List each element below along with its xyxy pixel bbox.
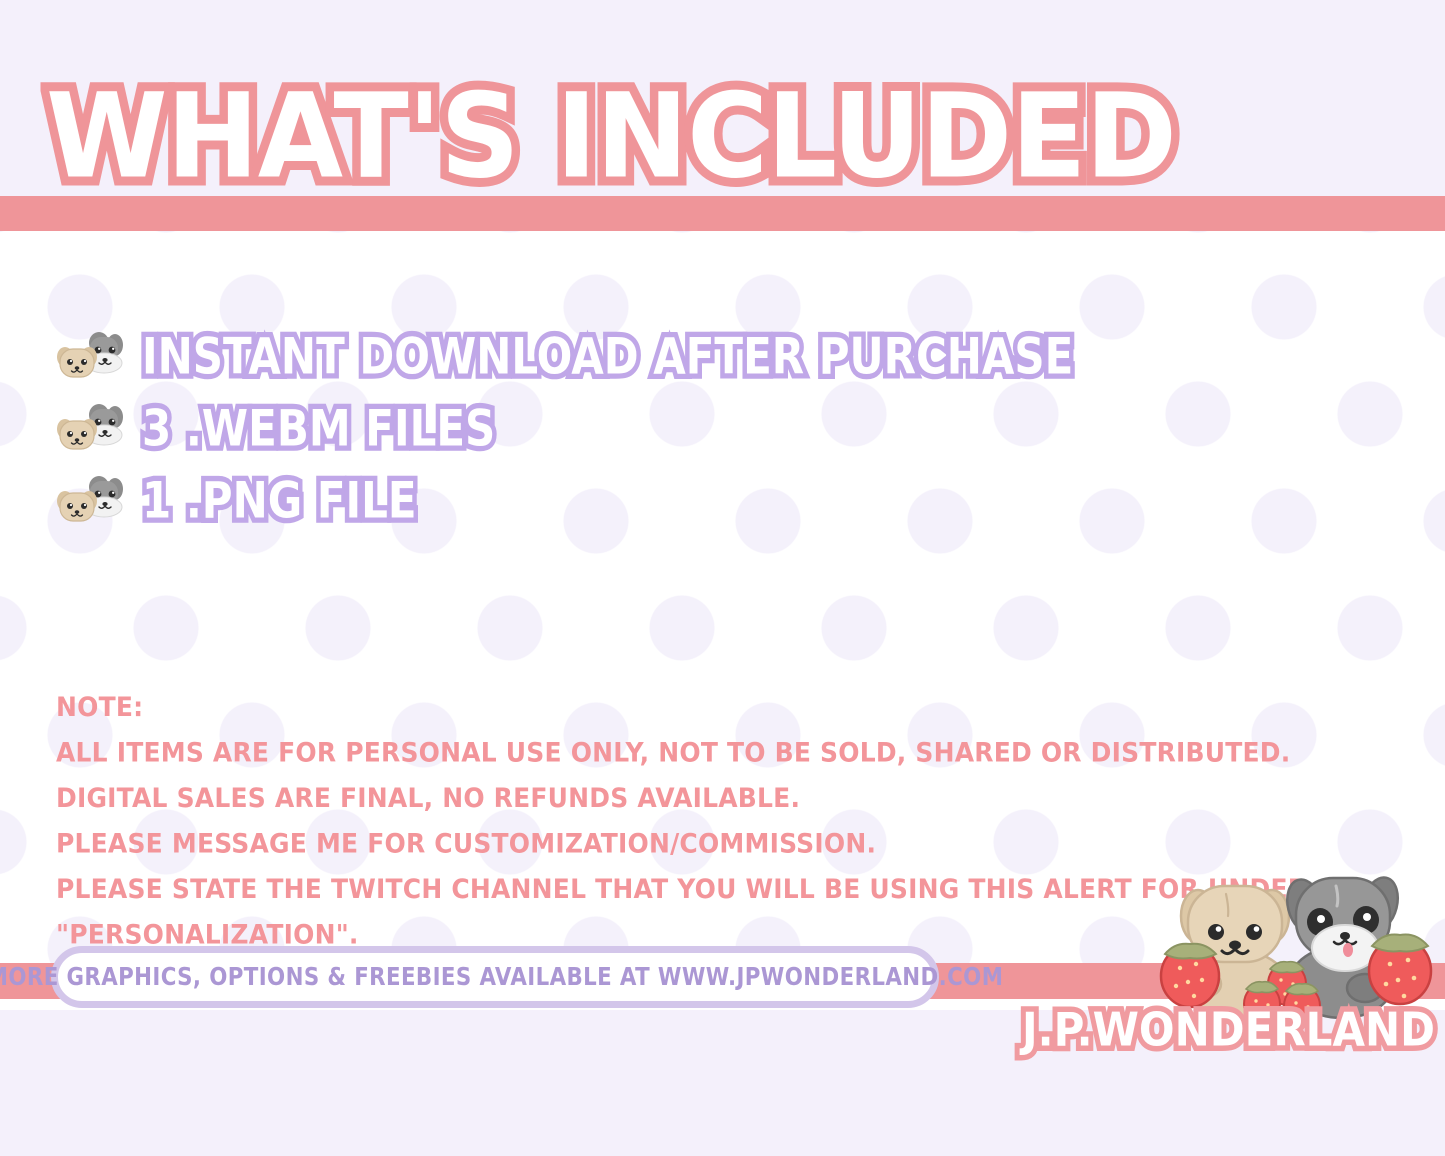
brand-name: J.P.WONDERLAND bbox=[1022, 1006, 1435, 1054]
list-item: 3 .WEBM FILES bbox=[56, 394, 1073, 464]
included-items-list: INSTANT DOWNLOAD AFTER PURCHASE bbox=[56, 322, 1073, 538]
two-puppies-with-strawberries-icon bbox=[1150, 856, 1440, 1026]
note-line: ALL ITEMS ARE FOR PERSONAL USE ONLY, NOT… bbox=[56, 730, 1307, 776]
two-puppies-icon bbox=[56, 329, 128, 385]
website-pill[interactable]: MORE GRAPHICS, OPTIONS & FREEBIES AVAILA… bbox=[51, 946, 939, 1008]
page-title-text: WHAT'S INCLUDED bbox=[46, 78, 1176, 194]
website-pill-label: MORE GRAPHICS, OPTIONS & FREEBIES AVAILA… bbox=[0, 963, 1003, 992]
note-line: DIGITAL SALES ARE FINAL, NO REFUNDS AVAI… bbox=[56, 775, 1307, 821]
list-item: INSTANT DOWNLOAD AFTER PURCHASE bbox=[56, 322, 1073, 392]
page-title: WHAT'S INCLUDED bbox=[46, 84, 1112, 188]
poster-canvas: WHAT'S INCLUDED bbox=[0, 0, 1445, 1156]
two-puppies-icon bbox=[56, 401, 128, 457]
list-item-label: INSTANT DOWNLOAD AFTER PURCHASE bbox=[142, 330, 1073, 384]
list-item: 1 .PNG FILE bbox=[56, 466, 1073, 536]
note-line: PLEASE MESSAGE ME FOR CUSTOMIZATION/COMM… bbox=[56, 821, 1307, 867]
list-item-label: 1 .PNG FILE bbox=[142, 474, 417, 528]
two-puppies-icon bbox=[56, 473, 128, 529]
list-item-label: 3 .WEBM FILES bbox=[142, 402, 495, 456]
note-block: NOTE: ALL ITEMS ARE FOR PERSONAL USE ONL… bbox=[56, 684, 1307, 957]
note-line: PLEASE STATE THE TWITCH CHANNEL THAT YOU… bbox=[56, 866, 1307, 912]
note-heading: NOTE: bbox=[56, 684, 1307, 730]
